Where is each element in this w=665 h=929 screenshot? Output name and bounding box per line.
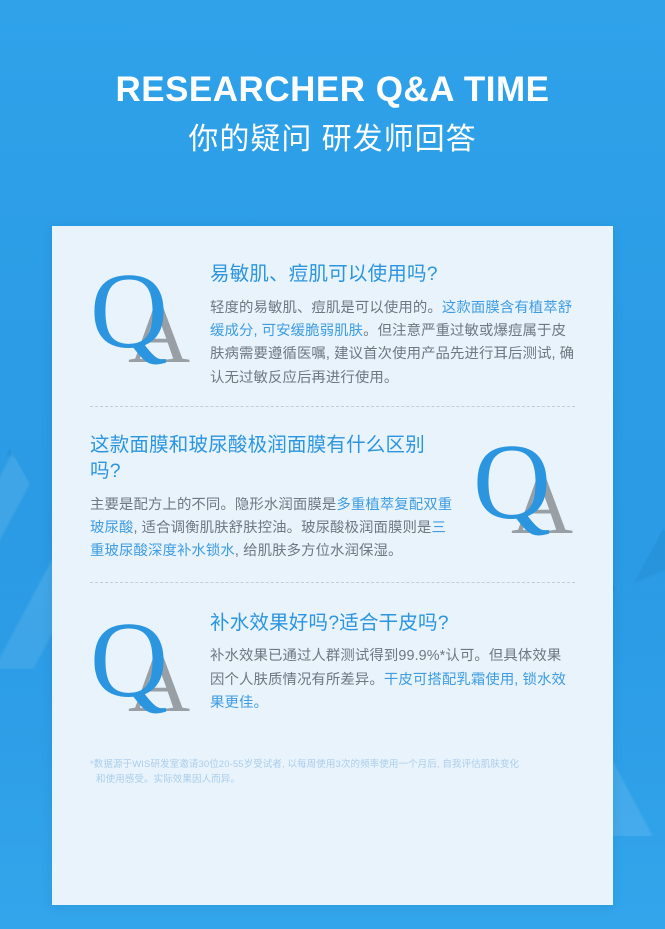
qa-item-3-question: 补水效果好吗?适合干皮吗? xyxy=(210,611,575,637)
footnote: *数据源于WIS研发室邀请30位20-55岁受试者, 以每周使用3次的频率使用一… xyxy=(90,757,575,788)
qa-item-3: Q A 补水效果好吗?适合干皮吗? 补水效果已通过人群测试得到99.9%*认可。… xyxy=(52,583,613,731)
qa-card: Q A 易敏肌、痘肌可以使用吗? 轻度的易敏肌、痘肌是可以使用的。这款面膜含有植… xyxy=(52,226,613,905)
qa-monogram-icon: Q A xyxy=(473,433,575,543)
letter-q-icon: Q xyxy=(90,258,168,366)
qa-item-2: Q A 这款面膜和玻尿酸极润面膜有什么区别吗? 主要是配方上的不同。隐形水润面膜… xyxy=(52,407,613,581)
qa-item-2-row: Q A 这款面膜和玻尿酸极润面膜有什么区别吗? 主要是配方上的不同。隐形水润面膜… xyxy=(90,433,575,563)
qa-item-3-body: 补水效果好吗?适合干皮吗? 补水效果已通过人群测试得到99.9%*认可。但具体效… xyxy=(210,611,575,716)
qa-item-1-question: 易敏肌、痘肌可以使用吗? xyxy=(210,262,575,288)
qa-item-3-row: Q A 补水效果好吗?适合干皮吗? 补水效果已通过人群测试得到99.9%*认可。… xyxy=(90,611,575,721)
qa-item-3-answer: 补水效果已通过人群测试得到99.9%*认可。但具体效果因个人肤质情况有所差异。干… xyxy=(210,645,575,715)
qa-item-1-body: 易敏肌、痘肌可以使用吗? 轻度的易敏肌、痘肌是可以使用的。这款面膜含有植萃舒缓成… xyxy=(210,262,575,390)
answer-text: , 给肌肤多方位水润保湿。 xyxy=(235,543,403,559)
letter-q-icon: Q xyxy=(90,607,168,715)
page-subtitle: 你的疑问 研发师回答 xyxy=(0,123,665,156)
qa-item-1-answer: 轻度的易敏肌、痘肌是可以使用的。这款面膜含有植萃舒缓成分, 可安缓脆弱肌肤。但注… xyxy=(210,297,575,390)
qa-item-2-answer: 主要是配方上的不同。隐形水润面膜是多重植萃复配双重玻尿酸, 适合调衡肌肤舒肤控油… xyxy=(90,494,455,564)
qa-item-1: Q A 易敏肌、痘肌可以使用吗? 轻度的易敏肌、痘肌是可以使用的。这款面膜含有植… xyxy=(52,226,613,406)
qa-list: Q A 易敏肌、痘肌可以使用吗? 轻度的易敏肌、痘肌是可以使用的。这款面膜含有植… xyxy=(52,226,613,788)
qa-monogram-icon: Q A xyxy=(90,611,192,721)
qa-item-1-row: Q A 易敏肌、痘肌可以使用吗? 轻度的易敏肌、痘肌是可以使用的。这款面膜含有植… xyxy=(90,262,575,390)
answer-text: 主要是配方上的不同。隐形水润面膜是 xyxy=(90,497,336,513)
qa-item-2-question: 这款面膜和玻尿酸极润面膜有什么区别吗? xyxy=(90,433,455,484)
answer-text: 轻度的易敏肌、痘肌是可以使用的。 xyxy=(210,300,442,316)
footnote-line-2: 和使用感受。实际效果因人而异。 xyxy=(90,772,575,788)
page-header: RESEARCHER Q&A TIME 你的疑问 研发师回答 xyxy=(0,0,665,156)
qa-item-2-body: 这款面膜和玻尿酸极润面膜有什么区别吗? 主要是配方上的不同。隐形水润面膜是多重植… xyxy=(90,433,455,563)
page-title: RESEARCHER Q&A TIME xyxy=(0,72,665,109)
letter-q-icon: Q xyxy=(473,429,551,537)
footnote-line-1: *数据源于WIS研发室邀请30位20-55岁受试者, 以每周使用3次的频率使用一… xyxy=(90,759,519,770)
answer-text: , 适合调衡肌肤舒肤控油。玻尿酸极润面膜则是 xyxy=(133,520,431,536)
qa-monogram-icon: Q A xyxy=(90,262,192,372)
